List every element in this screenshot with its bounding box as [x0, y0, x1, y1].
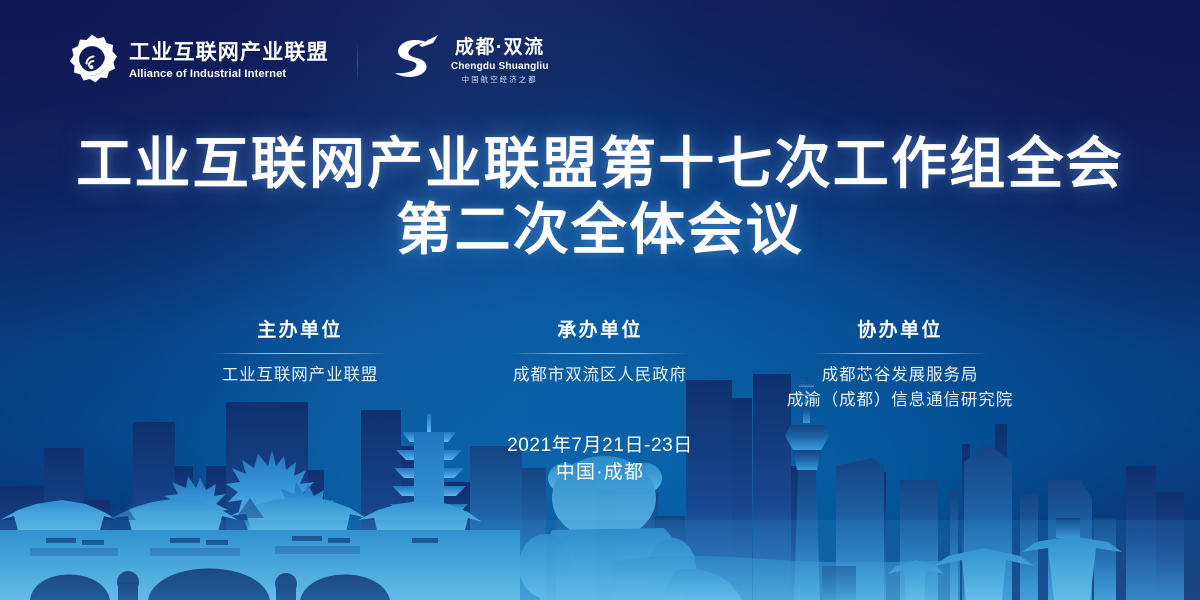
organizer-section: 主办单位 工业互联网产业联盟 承办单位 成都市双流区人民政府 协办单位 成都芯谷…: [0, 320, 1200, 414]
logo-chengdu-shuangliu: 成都·双流 Chengdu Shuangliu 中国航空经济之都: [386, 33, 549, 90]
logo-industrial-alliance-cn: 工业互联网产业联盟: [129, 42, 329, 64]
logo-separator: [357, 42, 358, 82]
event-date-place: 2021年7月21日-23日 中国·成都: [0, 433, 1200, 487]
logo-industrial-alliance-text: 工业互联网产业联盟 Alliance of Industrial Interne…: [129, 42, 329, 81]
logo-chengdu-shuangliu-cn: 成都·双流: [455, 38, 545, 58]
organizer-role-label: 承办单位: [450, 320, 750, 343]
event-title-line-1: 工业互联网产业联盟第十七次工作组全会: [0, 131, 1200, 197]
organizer-name: 工业互联网产业联盟: [150, 363, 450, 389]
event-place: 中国·成都: [0, 460, 1200, 487]
organizer-column-co-organizer: 协办单位 成都芯谷发展服务局 成渝（成都）信息通信研究院: [750, 320, 1050, 414]
logo-industrial-alliance-en: Alliance of Industrial Internet: [129, 67, 329, 81]
organizer-name: 成渝（成都）信息通信研究院: [750, 388, 1050, 414]
logo-bar: 工业互联网产业联盟 Alliance of Industrial Interne…: [66, 33, 549, 90]
logo-chengdu-shuangliu-tagline: 中国航空经济之都: [462, 75, 538, 85]
logo-chengdu-shuangliu-text: 成都·双流 Chengdu Shuangliu 中国航空经济之都: [451, 38, 549, 85]
organizer-divider: [812, 353, 988, 354]
logo-chengdu-shuangliu-en: Chengdu Shuangliu: [451, 60, 549, 73]
organizer-column-host: 主办单位 工业互联网产业联盟: [150, 320, 450, 414]
organizer-column-organizer: 承办单位 成都市双流区人民政府: [450, 320, 750, 414]
foreground-haze: [0, 520, 1200, 600]
organizer-name: 成都芯谷发展服务局: [750, 363, 1050, 389]
organizer-divider: [212, 353, 388, 354]
logo-industrial-alliance: 工业互联网产业联盟 Alliance of Industrial Interne…: [66, 33, 329, 90]
organizer-role-label: 主办单位: [150, 320, 450, 343]
event-date: 2021年7月21日-23日: [0, 433, 1200, 460]
conference-banner: 工业互联网产业联盟 Alliance of Industrial Interne…: [0, 0, 1200, 600]
event-title: 工业互联网产业联盟第十七次工作组全会 第二次全体会议: [0, 131, 1200, 262]
s-swoosh-airplane-icon: [386, 33, 442, 90]
gear-wifi-icon: [66, 33, 118, 90]
organizer-divider: [512, 353, 688, 354]
organizer-role-label: 协办单位: [750, 320, 1050, 343]
organizer-name: 成都市双流区人民政府: [450, 363, 750, 389]
event-title-line-2: 第二次全体会议: [0, 197, 1200, 263]
